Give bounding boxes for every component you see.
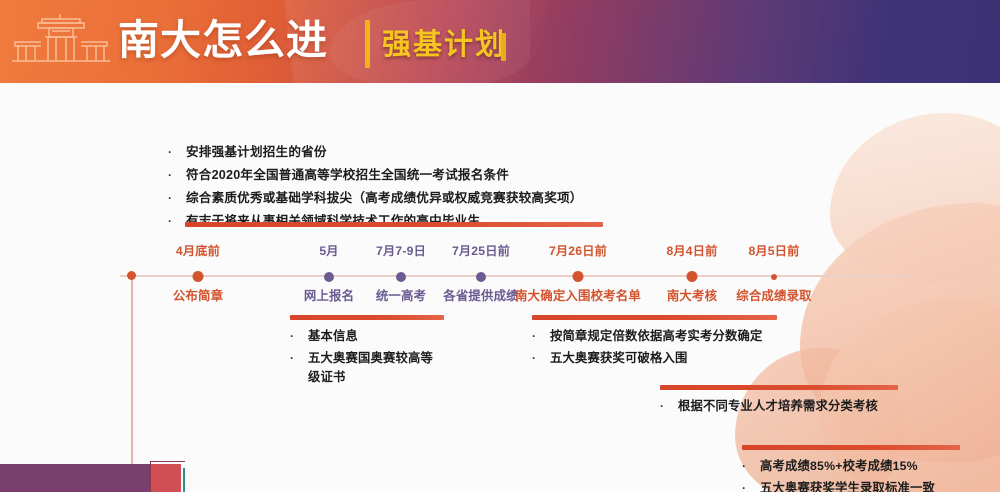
timeline-node-date: 8月5日前 [748, 241, 799, 259]
timeline-origin-dot [127, 271, 136, 280]
callout-underline-bar [660, 385, 898, 390]
bullet-marker-icon: · [168, 166, 186, 185]
list-item: ·安排强基计划招生的省份 [168, 143, 608, 162]
list-item: ·五大奥赛国奥赛较高等级证书 [290, 349, 444, 387]
bullet-marker-icon: · [290, 327, 308, 346]
slide-header-banner: 南大怎么进 强基计划 [0, 0, 1000, 83]
timeline-axis [120, 275, 910, 277]
bullet-marker-icon: · [660, 397, 678, 416]
bullet-marker-icon: · [168, 212, 186, 231]
list-item-label: 安排强基计划招生的省份 [186, 143, 327, 162]
callout-application-materials: ·基本信息·五大奥赛国奥赛较高等级证书 [290, 315, 444, 390]
timeline-node-date: 7月25日前 [452, 241, 510, 259]
title-accent-bar [365, 20, 370, 68]
timeline-node-label: 网上报名 [304, 286, 354, 304]
timeline-node-date: 8月4日前 [666, 241, 717, 259]
timeline-node-date: 5月 [319, 241, 338, 259]
bullet-marker-icon: · [168, 189, 186, 208]
list-item: ·五大奥赛获奖可破格入围 [532, 349, 777, 368]
callout-shortlist-criteria: ·按简章规定倍数依据高考实考分数确定·五大奥赛获奖可破格入围 [532, 315, 777, 371]
list-item-label: 综合素质优秀或基础学科拔尖（高考成绩优异或权威竞赛获较高奖项） [186, 189, 583, 208]
timeline-node-dot[interactable] [324, 272, 334, 282]
bullet-marker-icon: · [168, 143, 186, 162]
list-item: ·高考成绩85%+校考成绩15% [742, 457, 960, 476]
callout-underline-bar [290, 315, 444, 320]
page-subtitle: 强基计划 [382, 28, 506, 62]
timeline-node-label: 各省提供成绩 [443, 286, 519, 304]
timeline-node-label: 南大考核 [667, 286, 717, 304]
list-item: ·符合2020年全国普通高等学校招生全国统一考试报名条件 [168, 166, 608, 185]
list-item: ·根据不同专业人才培养需求分类考核 [660, 397, 898, 416]
timeline-node-dot[interactable] [573, 271, 584, 282]
slide-root: 南大怎么进 强基计划 ·安排强基计划招生的省份·符合2020年全国普通高等学校招… [0, 0, 1000, 496]
timeline-node-label: 综合成绩录取 [736, 286, 812, 304]
list-item-label: 基本信息 [308, 327, 358, 346]
callout-underline-bar [532, 315, 777, 320]
list-item-label: 按简章规定倍数依据高考实考分数确定 [550, 327, 762, 346]
bottom-slide-thumbnail[interactable] [0, 457, 185, 496]
callout-underline-bar [742, 445, 960, 450]
background-blob-top [830, 113, 1000, 283]
timeline-node-label: 统一高考 [376, 286, 426, 304]
timeline-node-date: 7月7-9日 [376, 241, 426, 259]
university-gate-icon [8, 8, 114, 66]
list-item-label: 五大奥赛获奖可破格入围 [550, 349, 687, 368]
list-item: ·综合素质优秀或基础学科拔尖（高考成绩优异或权威竞赛获较高奖项） [168, 189, 608, 208]
slide-body: ·安排强基计划招生的省份·符合2020年全国普通高等学校招生全国统一考试报名条件… [0, 83, 1000, 496]
timeline-node-label: 南大确定入围校考名单 [515, 286, 641, 304]
callout-assessment-method: ·根据不同专业人才培养需求分类考核 [660, 385, 898, 419]
list-item-label: 根据不同专业人才培养需求分类考核 [678, 397, 878, 416]
page-title: 南大怎么进 [118, 16, 328, 64]
list-item-label: 五大奥赛国奥赛较高等级证书 [308, 349, 444, 387]
timeline-node-dot[interactable] [687, 271, 698, 282]
list-item: ·按简章规定倍数依据高考实考分数确定 [532, 327, 777, 346]
background-blob-one [800, 203, 1000, 463]
thumbnail-selection-border [150, 461, 185, 496]
bullet-marker-icon: · [290, 349, 308, 368]
list-item-label: 符合2020年全国普通高等学校招生全国统一考试报名条件 [186, 166, 509, 185]
bullet-marker-icon: · [532, 327, 550, 346]
bullet-marker-icon: · [532, 349, 550, 368]
timeline-node-date: 7月26日前 [549, 241, 607, 259]
timeline-node-dot[interactable] [396, 272, 406, 282]
timeline-node-dot[interactable] [193, 271, 204, 282]
footer-strip [0, 492, 1000, 496]
timeline-node-date: 4月底前 [176, 241, 220, 259]
timeline-node-dot[interactable] [771, 274, 777, 280]
bullet-marker-icon: · [742, 457, 760, 476]
intro-underline-bar [185, 222, 603, 227]
timeline-node-label: 公布简章 [173, 286, 223, 304]
timeline-vertical-connector [131, 276, 133, 468]
timeline-node-dot[interactable] [476, 272, 486, 282]
subtitle-accent-bar [501, 33, 506, 61]
callout-admission-weighting: ·高考成绩85%+校考成绩15%·五大奥赛获奖学生录取标准一致 [742, 445, 960, 496]
list-item-label: 高考成绩85%+校考成绩15% [760, 457, 918, 476]
list-item: ·基本信息 [290, 327, 444, 346]
